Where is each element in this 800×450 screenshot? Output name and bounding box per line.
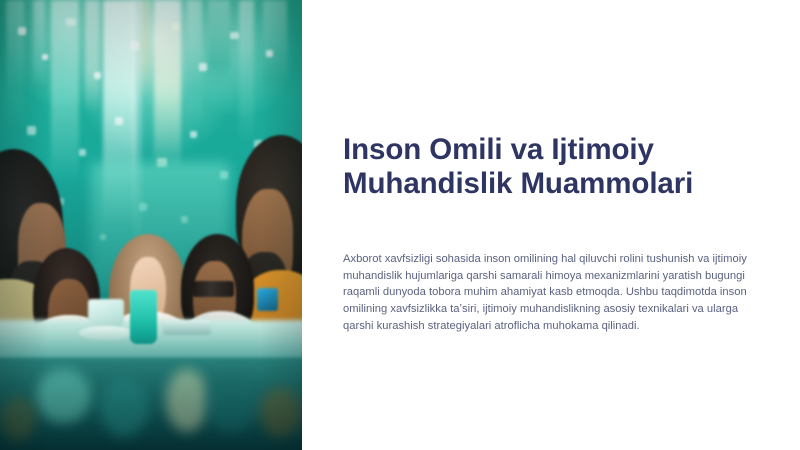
- slide-body-text: Axborot xavfsizligi sohasida inson omili…: [343, 251, 771, 334]
- presentation-slide: Inson Omili va Ijtimoiy Muhandislik Muam…: [0, 0, 800, 450]
- page-title: Inson Omili va Ijtimoiy Muhandislik Muam…: [343, 133, 763, 201]
- photo-stage: [0, 0, 302, 450]
- team-meeting-photo: [0, 0, 302, 450]
- photo-vignette: [0, 0, 302, 450]
- text-content-panel: Inson Omili va Ijtimoiy Muhandislik Muam…: [302, 0, 800, 450]
